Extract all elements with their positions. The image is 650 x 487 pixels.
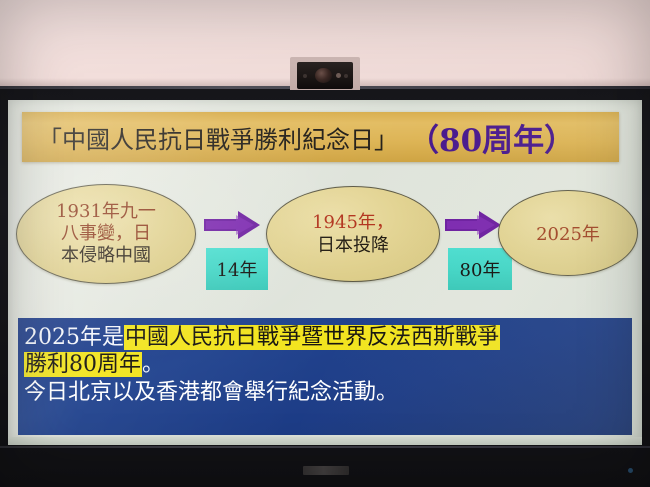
node-1945-line1: 1945年， xyxy=(312,212,394,233)
node-1931-line2: 八事變，日 xyxy=(61,223,151,244)
power-led-icon xyxy=(628,468,633,473)
gap-2-text: 80年 xyxy=(460,256,501,282)
slide-title-text: 「中國人民抗日戰爭勝利紀念日」 xyxy=(22,120,398,155)
gap-1-text: 14年 xyxy=(217,256,258,282)
node-1931-line3: 本侵略中國 xyxy=(61,245,151,266)
body-line-1-highlight: 中國人民抗日戰爭暨世界反法西斯戰爭 xyxy=(124,325,500,350)
monitor-brand-logo xyxy=(303,466,349,475)
slide-title-anniversary: （80周年） xyxy=(398,115,575,160)
right-arrow-icon xyxy=(204,210,260,240)
screen-lower-border xyxy=(8,437,642,445)
webcam-lens-icon xyxy=(315,68,332,83)
slide-title-banner: 「中國人民抗日戰爭勝利紀念日」 （80周年） xyxy=(22,112,619,162)
node-1945-line2: 日本投降 xyxy=(317,235,389,256)
timeline-node-1931-text: 1931年九一 八事變，日 本侵略中國 xyxy=(46,201,166,267)
timeline-node-1945: 1945年， 日本投降 xyxy=(266,186,440,282)
bezel-seam xyxy=(0,446,650,448)
gap-label-80-years: 80年 xyxy=(448,248,512,290)
webcam-led-icon xyxy=(336,73,341,78)
timeline-node-2025: 2025年 xyxy=(498,190,638,276)
slide: 「中國人民抗日戰爭勝利紀念日」 （80周年） 1931年九一 八事變，日 本侵略… xyxy=(8,100,642,443)
gap-label-14-years: 14年 xyxy=(206,248,268,290)
timeline-node-1945-text: 1945年， 日本投降 xyxy=(304,211,402,258)
right-arrow-icon xyxy=(445,210,501,240)
webcam-mic-right-icon xyxy=(344,74,348,78)
body-line-2-suffix: 。 xyxy=(142,352,164,377)
presentation-screen: 「中國人民抗日戰爭勝利紀念日」 （80周年） 1931年九一 八事變，日 本侵略… xyxy=(8,100,642,443)
body-line-3: 今日北京以及香港都會舉行紀念活動。 xyxy=(18,380,632,406)
body-line-2: 勝利80周年。 xyxy=(18,352,632,378)
node-1931-line1: 1931年九一 xyxy=(56,201,156,222)
webcam-mic-left-icon xyxy=(303,74,307,78)
body-line-2-highlight: 勝利80周年 xyxy=(24,352,142,377)
timeline-node-1931: 1931年九一 八事變，日 本侵略中國 xyxy=(16,184,196,284)
body-line-1-prefix: 2025年是 xyxy=(24,325,124,350)
timeline-node-2025-text: 2025年 xyxy=(536,220,600,246)
timeline-row: 1931年九一 八事變，日 本侵略中國 14年 1945年， 日本投降 xyxy=(8,172,642,302)
screenshot-root: 「中國人民抗日戰爭勝利紀念日」 （80周年） 1931年九一 八事變，日 本侵略… xyxy=(0,0,650,487)
slide-body-panel: 2025年是中國人民抗日戰爭暨世界反法西斯戰爭 勝利80周年。 今日北京以及香港… xyxy=(18,318,632,435)
body-line-1: 2025年是中國人民抗日戰爭暨世界反法西斯戰爭 xyxy=(18,325,632,351)
